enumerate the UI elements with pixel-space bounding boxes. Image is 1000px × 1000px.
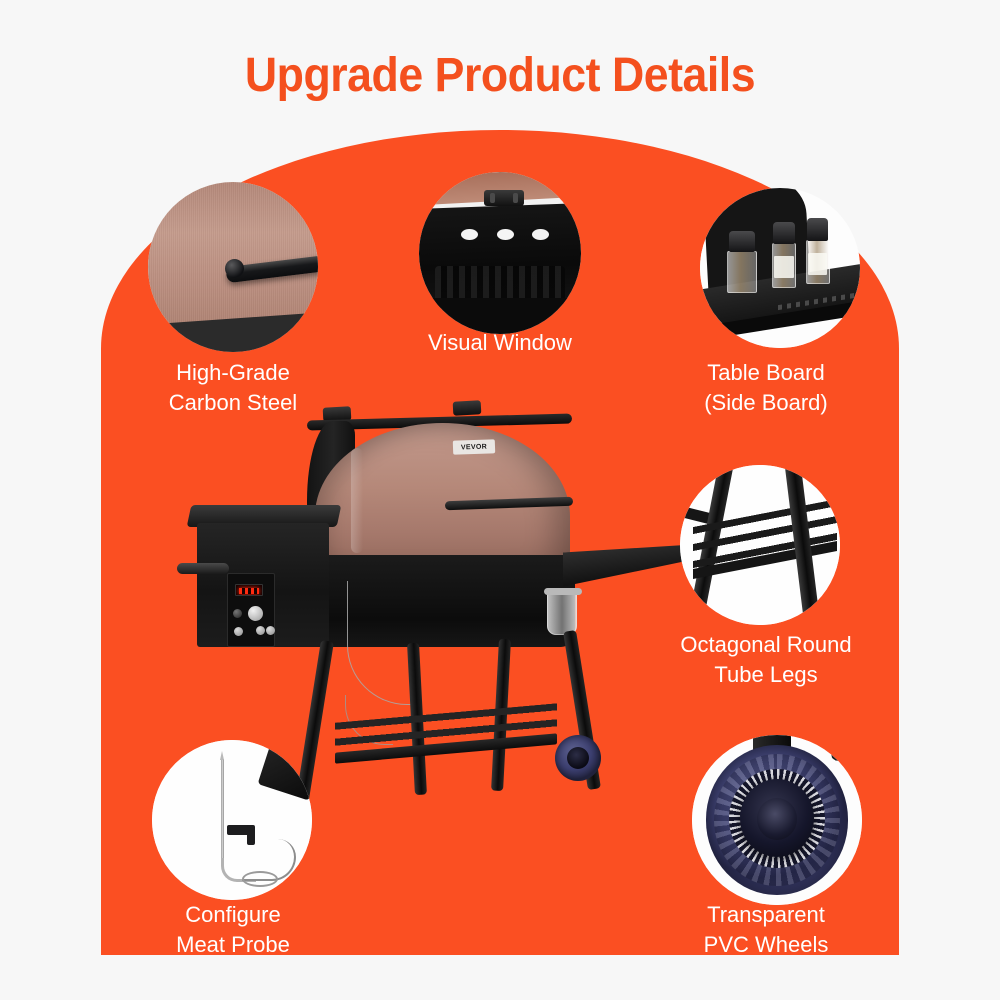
spice-jar-2 (772, 222, 796, 288)
small-knob (233, 609, 242, 618)
spice-jar-2-label (774, 256, 793, 278)
led-display (235, 584, 263, 596)
table-board-image (700, 188, 860, 348)
visual-window-image (419, 172, 581, 334)
spice-jar-1-cap (729, 231, 755, 252)
spice-jar-1-glass (727, 251, 757, 293)
window-port-3 (532, 229, 549, 240)
control-button-2 (256, 626, 265, 635)
control-button-1 (234, 627, 243, 636)
meat-probe-image (152, 740, 312, 900)
caption-tube-legs-line1: Octagonal Round (266, 630, 1000, 660)
grease-bucket (547, 591, 577, 635)
steel-rod-end (225, 259, 244, 278)
probe-cable-coil (242, 871, 278, 887)
brand-badge: VEVOR (453, 439, 495, 454)
caption-pvc-wheels-line2: PVC Wheels (266, 930, 1000, 960)
spice-jar-2-cap (773, 222, 794, 244)
side-shelf (563, 538, 685, 587)
probe-plug (227, 825, 253, 835)
spice-jar-3 (806, 218, 830, 284)
window-ridges (435, 266, 565, 302)
pvc-wheel-image (692, 735, 862, 905)
product-detail-infographic: Upgrade Product Details VEVOR (0, 0, 1000, 1000)
spice-jar-1 (727, 231, 757, 293)
caption-table-board-line1: Table Board (266, 358, 1000, 388)
caption-tube-legs-line2: Tube Legs (266, 660, 1000, 690)
brand-badge-label: VEVOR (461, 443, 487, 451)
pvc-wheel (555, 735, 601, 781)
window-port-1 (461, 229, 478, 240)
caption-table-board-line2: (Side Board) (266, 388, 1000, 418)
caption-pvc-wheels-line1: Transparent (266, 900, 1000, 930)
temperature-knob (248, 606, 263, 621)
window-hinge (484, 190, 524, 206)
carbon-steel-image (148, 182, 318, 352)
window-port-2 (497, 229, 514, 240)
probe-needle (221, 759, 224, 861)
page-title: Upgrade Product Details (35, 48, 965, 103)
spice-jar-3-cap (807, 218, 828, 240)
spice-jar-3-label (808, 253, 827, 275)
tube-legs-image (680, 465, 840, 625)
hopper-handle (177, 563, 229, 574)
